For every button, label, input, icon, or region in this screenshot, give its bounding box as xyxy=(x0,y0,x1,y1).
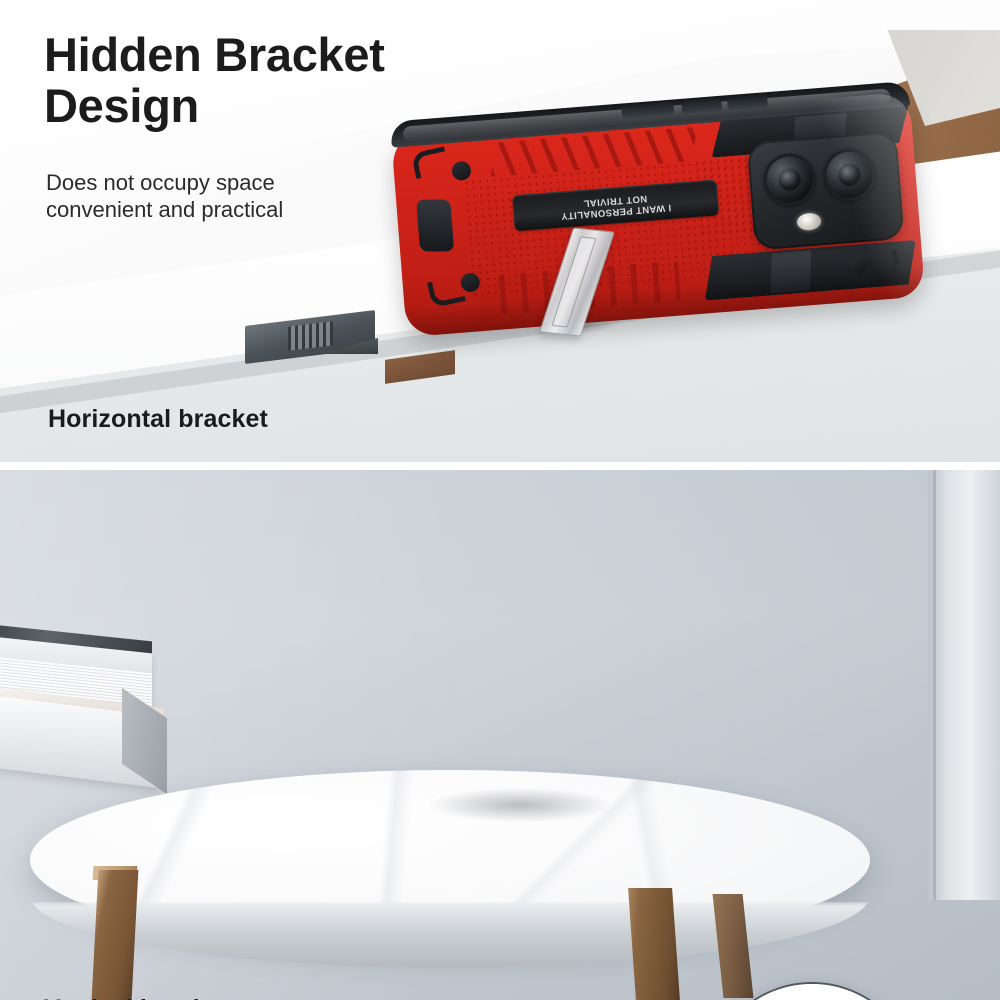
camera-module xyxy=(747,131,905,250)
phone-black-panel-bottom-accent xyxy=(767,250,814,293)
angle-detail-inset: I WANT PERSONALITY NOT TRIVIAL 90° xyxy=(706,982,918,1000)
panel-divider xyxy=(0,462,1000,470)
background-column-edge xyxy=(933,470,936,900)
page-subtitle: Does not occupy space convenient and pra… xyxy=(46,170,283,224)
camera-lens-2 xyxy=(822,147,878,203)
camera-lens-2-inner xyxy=(838,163,862,187)
phone-side-pad-left xyxy=(416,199,454,251)
page-subtitle-line-1: Does not occupy space xyxy=(46,170,283,197)
bottom-panel-vertical-bracket: Vertical bracket I WANT PERSONALITY NOT … xyxy=(0,470,1000,1000)
top-panel-horizontal-bracket: I WANT PERSONALITY NOT TRIVIAL xyxy=(0,0,1000,466)
page-subtitle-line-2: convenient and practical xyxy=(46,197,283,224)
phone-side-button-3 xyxy=(727,94,768,112)
camera-flash xyxy=(796,212,821,231)
page-title: Hidden Bracket Design xyxy=(44,30,385,132)
camera-lens-1 xyxy=(762,152,818,208)
camera-lens-1-inner xyxy=(778,168,802,192)
page-title-line-1: Hidden Bracket xyxy=(44,30,385,81)
background-column xyxy=(928,470,1000,900)
table-leg-1 xyxy=(92,870,139,1000)
inset-background xyxy=(708,984,916,1000)
phone-shadow-on-table xyxy=(430,788,610,822)
caption-horizontal-bracket: Horizontal bracket xyxy=(48,405,268,434)
page-title-line-2: Design xyxy=(44,81,385,132)
phone-side-button-2 xyxy=(681,98,722,116)
caption-vertical-bracket: Vertical bracket xyxy=(44,995,229,1000)
phone-embossed-label-text: I WANT PERSONALITY NOT TRIVIAL xyxy=(560,190,672,220)
book-stack xyxy=(0,645,192,785)
product-marketing-image: I WANT PERSONALITY NOT TRIVIAL xyxy=(0,0,1000,1000)
phone-case-horizontal: I WANT PERSONALITY NOT TRIVIAL xyxy=(391,92,925,337)
table-leg-2 xyxy=(628,888,680,1000)
